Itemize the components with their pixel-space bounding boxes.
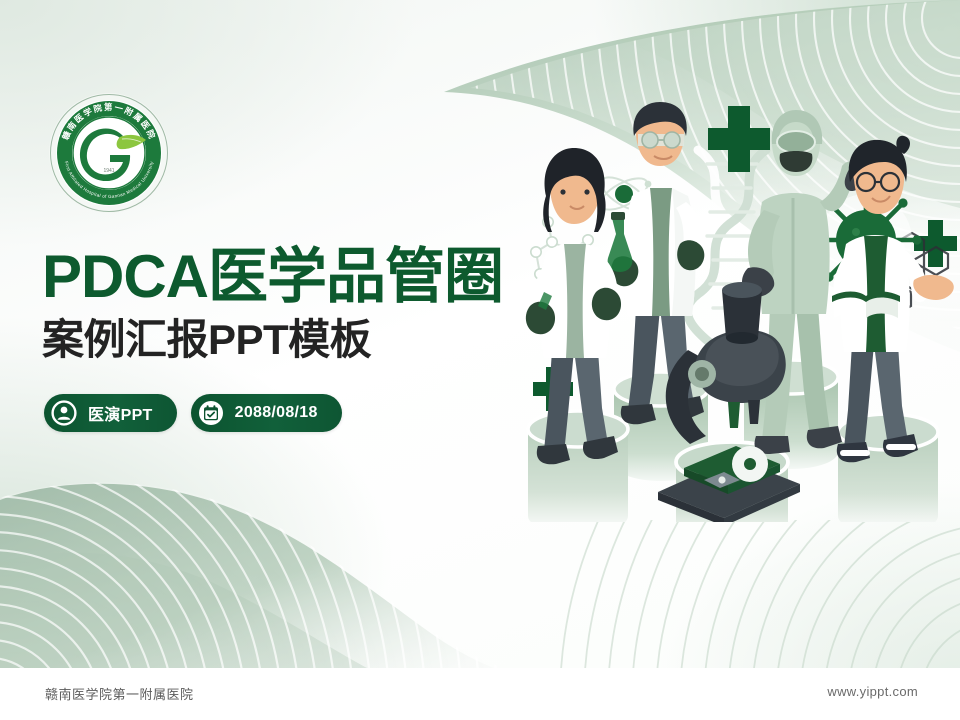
meta-badges: 医演PPT 2088/08/18 xyxy=(44,394,342,432)
author-badge-label: 医演PPT xyxy=(88,401,153,425)
medical-research-team-illustration xyxy=(508,92,960,522)
user-icon xyxy=(51,400,77,426)
footer-bar: 赣南医学院第一附属医院 www.yippt.com xyxy=(0,668,960,720)
pedestal-female-scientist xyxy=(528,411,628,522)
logo-year: 1941 xyxy=(103,168,114,174)
footer-website[interactable]: www.yippt.com xyxy=(827,684,918,699)
calendar-icon xyxy=(198,400,224,426)
presentation-cover-slide: 赣南医学院第一附属医院 First Affiliated Hospital of… xyxy=(0,0,960,720)
hospital-emblem-icon: 赣南医学院第一附属医院 First Affiliated Hospital of… xyxy=(48,92,170,214)
author-badge[interactable]: 医演PPT xyxy=(44,394,177,432)
page-subtitle: 案例汇报PPT模板 xyxy=(42,315,562,365)
title-block: PDCA医学品管圈 案例汇报PPT模板 xyxy=(42,245,562,364)
footer-organization: 赣南医学院第一附属医院 xyxy=(45,684,194,703)
hospital-logo: 赣南医学院第一附属医院 First Affiliated Hospital of… xyxy=(48,92,170,214)
date-badge-label: 2088/08/18 xyxy=(235,404,318,422)
page-title: PDCA医学品管圈 xyxy=(42,245,562,309)
date-badge[interactable]: 2088/08/18 xyxy=(191,394,342,432)
